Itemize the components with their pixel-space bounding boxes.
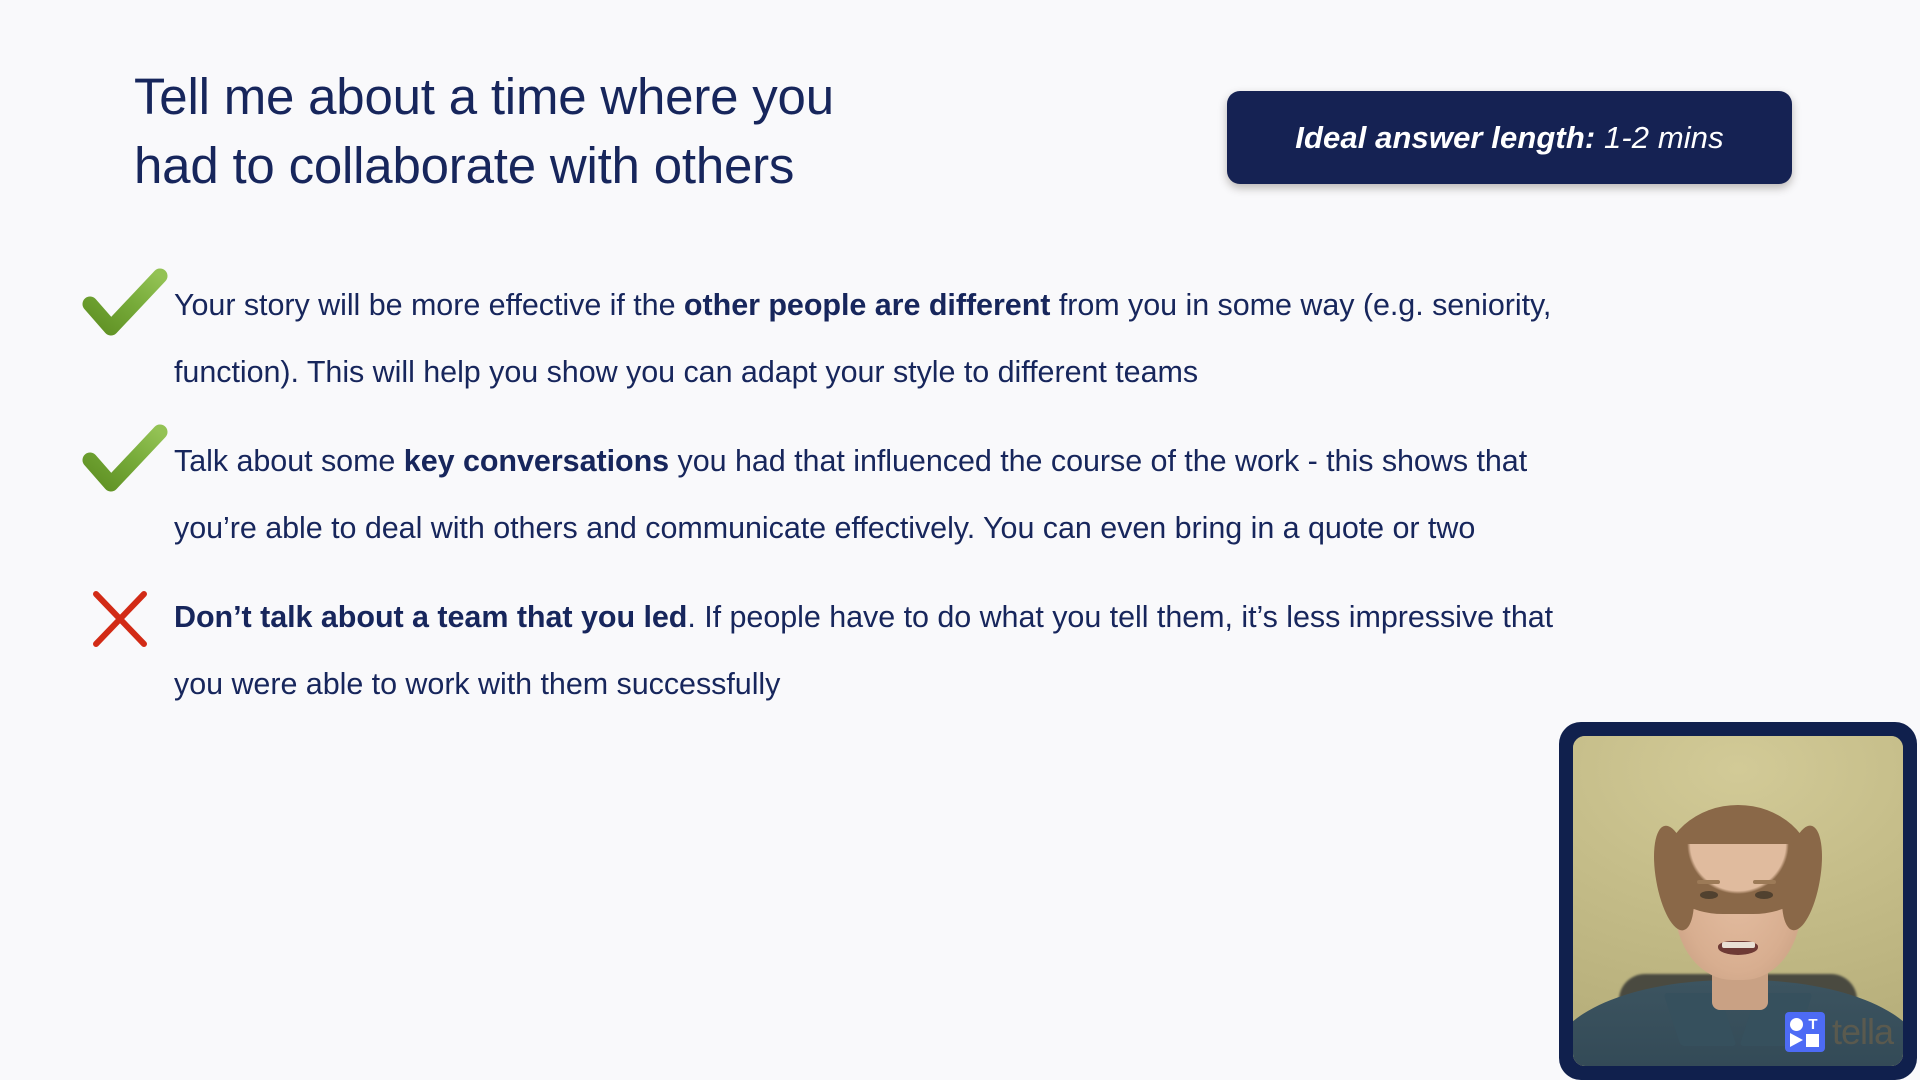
ideal-answer-length-badge: Ideal answer length: 1-2 mins bbox=[1227, 91, 1792, 184]
tella-brand-text: tella bbox=[1832, 1014, 1893, 1050]
list-item-text: Talk about some key conversations you ha… bbox=[174, 428, 1594, 562]
badge-value: 1-2 mins bbox=[1604, 120, 1724, 155]
list-item-text: Your story will be more effective if the… bbox=[174, 272, 1594, 406]
list-item: Talk about some key conversations you ha… bbox=[0, 428, 1920, 562]
logo-square-shape bbox=[1806, 1034, 1819, 1047]
logo-letter: T bbox=[1808, 1017, 1817, 1032]
check-icon bbox=[78, 266, 174, 332]
list-item-text: Don’t talk about a team that you led. If… bbox=[174, 584, 1594, 718]
segment-bold: Don’t talk about a team that you led bbox=[174, 600, 687, 634]
slide-canvas: Tell me about a time where you had to co… bbox=[0, 0, 1920, 1080]
logo-play-triangle bbox=[1790, 1033, 1803, 1047]
webcam-video-bubble[interactable]: T tella bbox=[1559, 722, 1917, 1080]
webcam-video-frame: T tella bbox=[1573, 736, 1903, 1066]
segment-bold: other people are different bbox=[684, 288, 1050, 322]
segment-bold: key conversations bbox=[404, 444, 669, 478]
segment-plain: Talk about some bbox=[174, 444, 404, 478]
page-title: Tell me about a time where you had to co… bbox=[134, 62, 1014, 201]
list-item: Don’t talk about a team that you led. If… bbox=[0, 584, 1920, 718]
tella-watermark: T tella bbox=[1785, 1012, 1893, 1052]
page-title-line-1: Tell me about a time where you bbox=[134, 62, 1014, 131]
speaker-eye-right bbox=[1755, 891, 1773, 899]
bullet-list: Your story will be more effective if the… bbox=[0, 272, 1920, 740]
check-icon bbox=[78, 422, 174, 488]
page-title-line-2: had to collaborate with others bbox=[134, 131, 1014, 200]
logo-circle-shape bbox=[1790, 1018, 1803, 1031]
speaker-teeth bbox=[1722, 942, 1755, 948]
list-item: Your story will be more effective if the… bbox=[0, 272, 1920, 406]
segment-plain: Your story will be more effective if the bbox=[174, 288, 684, 322]
tella-logo-icon: T bbox=[1785, 1012, 1825, 1052]
badge-label: Ideal answer length: bbox=[1295, 120, 1595, 155]
speaker-eyebrow-right bbox=[1753, 880, 1776, 885]
badge-text: Ideal answer length: 1-2 mins bbox=[1295, 120, 1723, 156]
slide-header: Tell me about a time where you had to co… bbox=[0, 0, 1920, 230]
cross-icon bbox=[86, 586, 182, 652]
speaker-eyebrow-left bbox=[1697, 880, 1720, 885]
